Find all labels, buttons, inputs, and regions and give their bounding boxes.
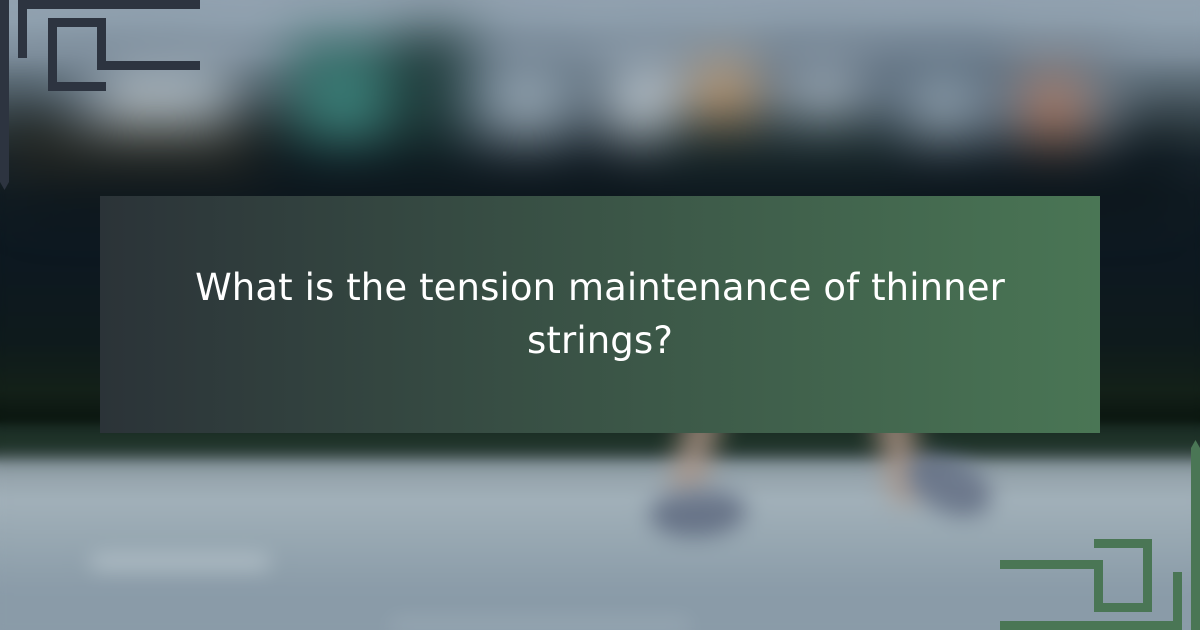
- social-card: What is the tension maintenance of thinn…: [0, 0, 1200, 630]
- title-banner: What is the tension maintenance of thinn…: [100, 196, 1100, 433]
- page-title: What is the tension maintenance of thinn…: [158, 262, 1042, 367]
